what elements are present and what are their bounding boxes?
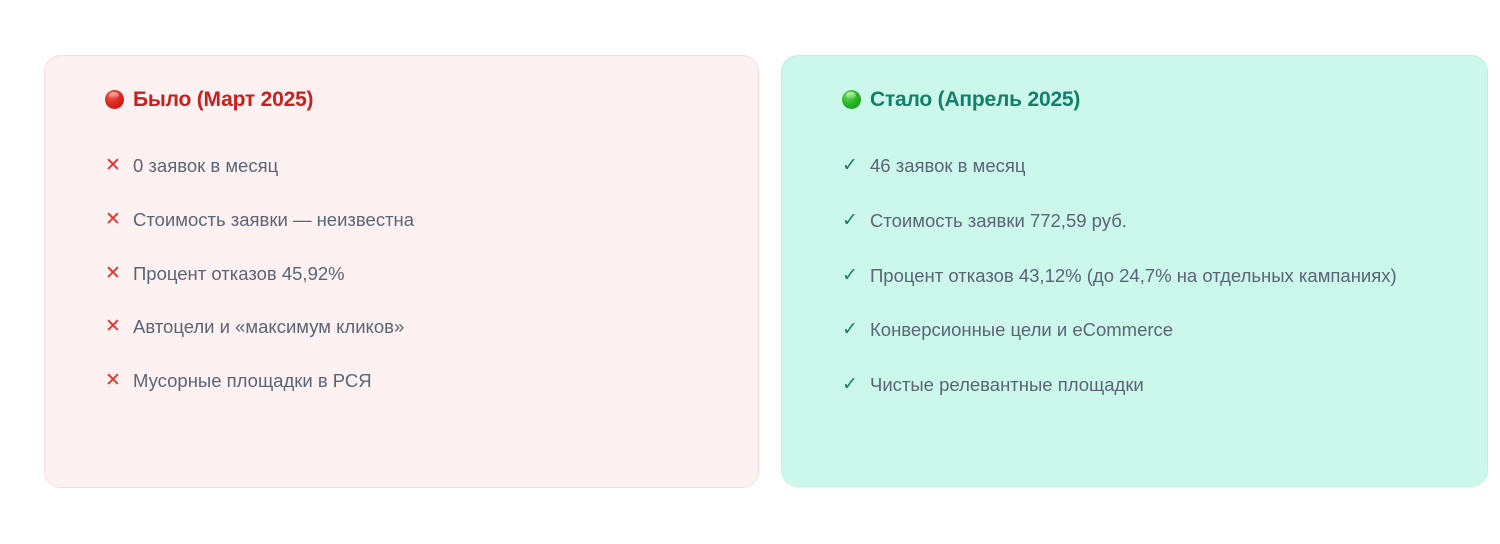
check-icon: ✓ <box>842 261 870 292</box>
cross-icon: ✕ <box>105 366 133 397</box>
list-item: ✕ Мусорные площадки в РСЯ <box>75 366 728 397</box>
list-item-text: Чистые релевантные площадки <box>870 370 1430 400</box>
list-item: ✓ Конверсионные цели и eCommerce <box>812 315 1457 346</box>
list-item: ✓ Чистые релевантные площадки <box>812 370 1457 401</box>
list-item-text: 0 заявок в месяц <box>133 151 693 181</box>
cross-icon: ✕ <box>105 312 133 343</box>
after-bullet-list: ✓ 46 заявок в месяц ✓ Стоимость заявки 7… <box>812 151 1457 401</box>
cross-icon: ✕ <box>105 151 133 182</box>
list-item: ✓ 46 заявок в месяц <box>812 151 1457 182</box>
list-item-text: Конверсионные цели и eCommerce <box>870 315 1430 345</box>
check-icon: ✓ <box>842 151 870 182</box>
list-item: ✕ Автоцели и «максимум кликов» <box>75 312 728 343</box>
cross-icon: ✕ <box>105 205 133 236</box>
list-item-text: Процент отказов 45,92% <box>133 259 693 289</box>
list-item-text: Процент отказов 43,12% (до 24,7% на отде… <box>870 261 1430 291</box>
list-item: ✓ Стоимость заявки 772,59 руб. <box>812 206 1457 237</box>
before-bullet-list: ✕ 0 заявок в месяц ✕ Стоимость заявки — … <box>75 151 728 397</box>
before-card-title-text: Было (Март 2025) <box>133 88 313 111</box>
list-item-text: Автоцели и «максимум кликов» <box>133 312 693 342</box>
after-card-title: Стало (Апрель 2025) <box>812 88 1457 111</box>
check-icon: ✓ <box>842 206 870 237</box>
red-circle-icon <box>105 90 124 109</box>
list-item-text: Стоимость заявки 772,59 руб. <box>870 206 1430 236</box>
list-item: ✕ Стоимость заявки — неизвестна <box>75 205 728 236</box>
list-item-text: Мусорные площадки в РСЯ <box>133 366 693 396</box>
green-circle-icon <box>842 90 861 109</box>
list-item-text: 46 заявок в месяц <box>870 151 1430 181</box>
list-item: ✕ Процент отказов 45,92% <box>75 259 728 290</box>
check-icon: ✓ <box>842 315 870 346</box>
after-card-title-text: Стало (Апрель 2025) <box>870 88 1080 111</box>
before-after-comparison: Было (Март 2025) ✕ 0 заявок в месяц ✕ Ст… <box>0 0 1500 544</box>
after-card: Стало (Апрель 2025) ✓ 46 заявок в месяц … <box>781 55 1488 487</box>
list-item-text: Стоимость заявки — неизвестна <box>133 205 693 235</box>
list-item: ✓ Процент отказов 43,12% (до 24,7% на от… <box>812 261 1457 292</box>
check-icon: ✓ <box>842 370 870 401</box>
before-card: Было (Март 2025) ✕ 0 заявок в месяц ✕ Ст… <box>44 55 759 488</box>
before-card-title: Было (Март 2025) <box>75 88 728 111</box>
cross-icon: ✕ <box>105 259 133 290</box>
list-item: ✕ 0 заявок в месяц <box>75 151 728 182</box>
